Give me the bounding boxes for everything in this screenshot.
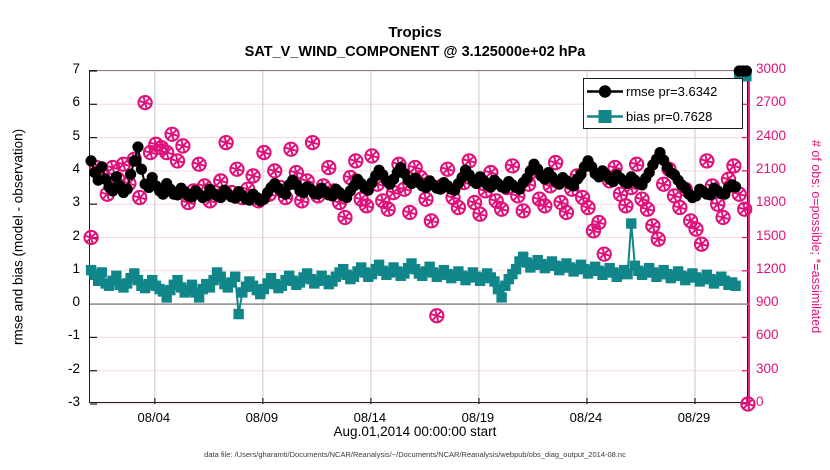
y-axis-left-label: rmse and bias (model - observation): [8, 70, 28, 403]
y-tick-left-0: 0: [40, 294, 80, 309]
x-tick-08-09: 08/09: [222, 410, 302, 425]
chart-title-subtitle: SAT_V_WIND_COMPONENT @ 3.125000e+02 hPa: [0, 44, 830, 60]
y-tick-right-0: 0: [756, 394, 804, 409]
chart-title-main: Tropics: [0, 24, 830, 41]
x-axis-label: Aug.01,2014 00:00:00 start: [0, 424, 830, 439]
rmse-marker-icon: [584, 79, 626, 104]
y-tick-right-1200: 1200: [756, 261, 804, 276]
y-tick-right-900: 900: [756, 294, 804, 309]
y-tick-left-2: 2: [40, 228, 80, 243]
y-tick-left-5: 5: [40, 128, 80, 143]
legend-label-rmse: rmse pr=3.6342: [626, 84, 717, 99]
y-tick-right-300: 300: [756, 361, 804, 376]
legend-item-rmse[interactable]: rmse pr=3.6342: [584, 79, 744, 104]
legend-item-bias[interactable]: bias pr=0.7628: [584, 104, 744, 129]
chart-legend: rmse pr=3.6342 bias pr=0.7628: [583, 78, 743, 129]
y-tick-left-7: 7: [40, 61, 80, 76]
data-file-footer: data file: /Users/gharamti/Documents/NCA…: [0, 450, 830, 459]
x-tick-08-19: 08/19: [438, 410, 518, 425]
y-tick-right-2400: 2400: [756, 128, 804, 143]
x-tick-08-04: 08/04: [114, 410, 194, 425]
bias-marker-icon: [584, 104, 626, 129]
y-tick-right-600: 600: [756, 327, 804, 342]
y-tick-right-2700: 2700: [756, 94, 804, 109]
y-tick-left-neg3: -3: [40, 394, 80, 409]
y-tick-left-neg1: -1: [40, 327, 80, 342]
y-axis-right-label: # of obs: o=possible; *=assimilated: [806, 70, 826, 403]
y-tick-left-6: 6: [40, 94, 80, 109]
y-tick-left-neg2: -2: [40, 361, 80, 376]
y-tick-left-3: 3: [40, 194, 80, 209]
y-tick-right-2100: 2100: [756, 161, 804, 176]
y-tick-right-1500: 1500: [756, 228, 804, 243]
y-tick-left-1: 1: [40, 261, 80, 276]
y-tick-right-3000: 3000: [756, 61, 804, 76]
y-tick-left-4: 4: [40, 161, 80, 176]
x-tick-08-24: 08/24: [546, 410, 626, 425]
y-tick-right-1800: 1800: [756, 194, 804, 209]
obs-count-markers: [84, 96, 754, 411]
x-tick-08-14: 08/14: [330, 410, 410, 425]
x-tick-08-29: 08/29: [654, 410, 734, 425]
legend-label-bias: bias pr=0.7628: [626, 109, 712, 124]
chart-figure: Tropics SAT_V_WIND_COMPONENT @ 3.125000e…: [0, 0, 830, 470]
